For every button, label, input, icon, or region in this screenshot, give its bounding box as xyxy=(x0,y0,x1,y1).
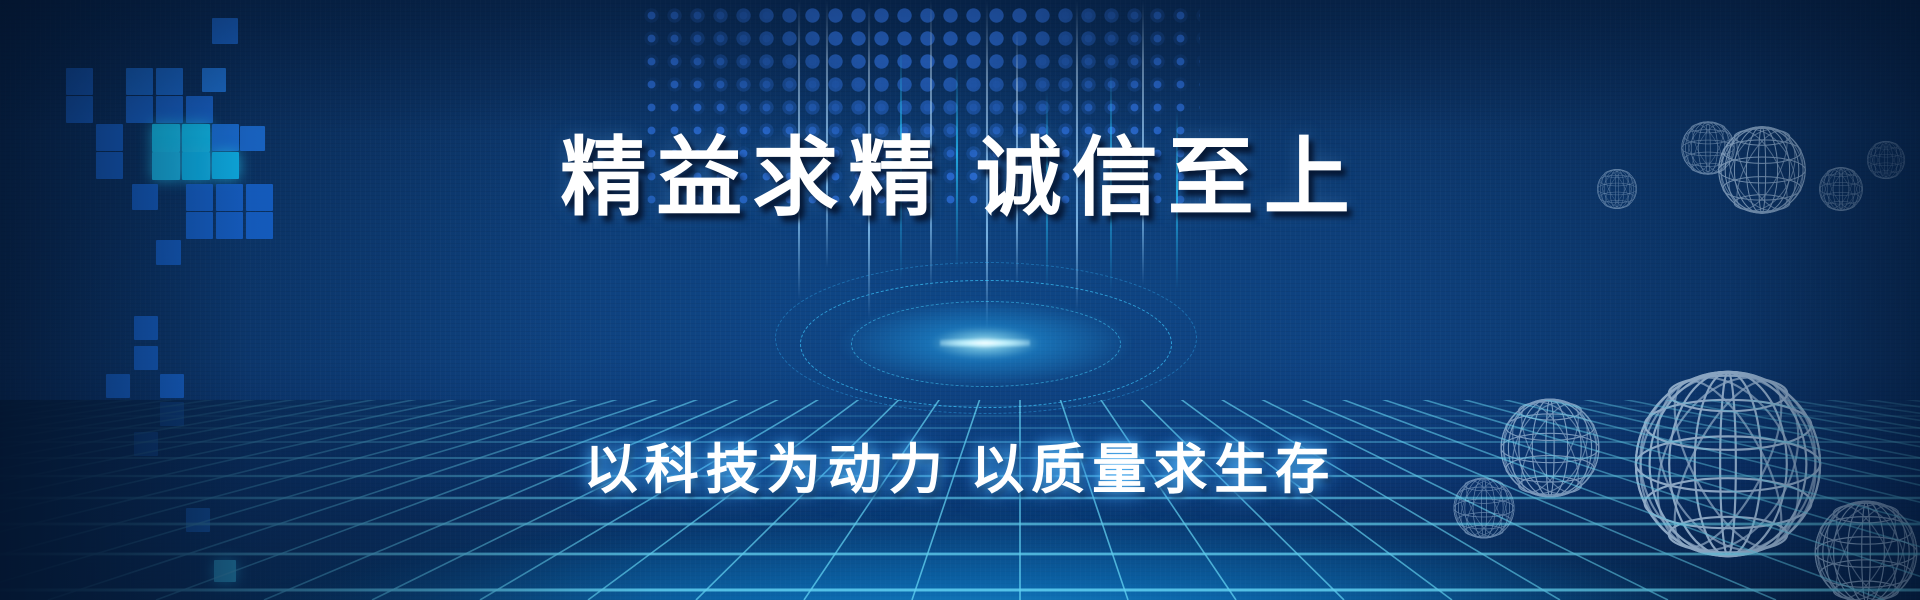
mosaic-square xyxy=(66,68,93,95)
mosaic-square xyxy=(106,374,130,398)
orbit-ring-outer xyxy=(775,262,1197,414)
mosaic-square xyxy=(214,560,236,582)
mosaic-square xyxy=(126,68,153,95)
pixel-mosaic-squares xyxy=(0,0,420,600)
mosaic-square xyxy=(156,68,183,95)
mosaic-square xyxy=(202,68,226,92)
subheadline-slogan: 以科技为动力 以质量求生存 xyxy=(0,425,1920,504)
mosaic-square xyxy=(186,508,210,532)
orbit-ring-inner xyxy=(851,301,1122,387)
scanline-texture xyxy=(0,0,1920,600)
edge-vignette xyxy=(0,0,1920,600)
mosaic-square xyxy=(156,240,181,265)
orbital-core-graphic xyxy=(775,268,1195,418)
mosaic-square xyxy=(160,374,184,398)
wireframe-globe xyxy=(1812,498,1920,600)
mosaic-square xyxy=(134,346,158,370)
vertical-light-beams xyxy=(780,0,1200,480)
hero-banner: 精益求精 诚信至上 以科技为动力 以质量求生存 xyxy=(0,0,1920,600)
mosaic-square xyxy=(134,316,158,340)
headline-slogan: 精益求精 诚信至上 xyxy=(0,107,1920,232)
core-hotspot xyxy=(940,339,1030,347)
orbit-ring-mid xyxy=(800,280,1172,408)
core-glow xyxy=(835,298,1135,388)
mosaic-square xyxy=(160,402,184,426)
mosaic-square xyxy=(212,18,238,44)
vertical-stripe-texture xyxy=(0,0,1920,600)
